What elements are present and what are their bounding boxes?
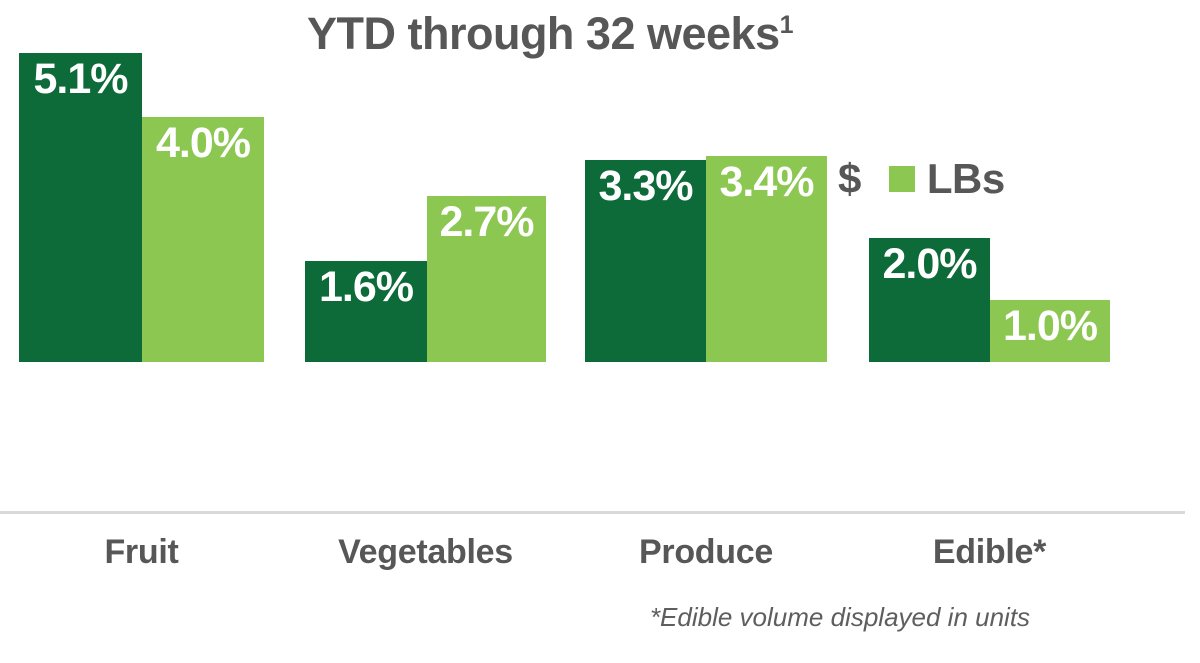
- bar-edible-dollars-value-label: 2.0%: [869, 242, 990, 287]
- bar-vegetables-dollars[interactable]: 1.6%: [305, 261, 427, 362]
- chart-container: YTD through 32 weeks1 $ LBs 5.1%4.0%1.6%…: [0, 0, 1200, 663]
- bar-produce-lbs-value-label: 3.4%: [706, 160, 827, 205]
- category-label-vegetables: Vegetables: [305, 533, 546, 572]
- category-label-edible: Edible*: [869, 533, 1110, 572]
- bar-produce-lbs[interactable]: 3.4%: [706, 156, 827, 362]
- bar-edible-dollars[interactable]: 2.0%: [869, 238, 990, 362]
- bar-produce-dollars[interactable]: 3.3%: [585, 160, 706, 362]
- bar-edible-lbs[interactable]: 1.0%: [990, 300, 1110, 362]
- plot-area: 5.1%4.0%1.6%2.7%3.3%3.4%2.0%1.0%: [0, 0, 1200, 513]
- bar-fruit-lbs[interactable]: 4.0%: [142, 117, 264, 362]
- bar-fruit-dollars-value-label: 5.1%: [19, 57, 142, 102]
- bar-edible-lbs-value-label: 1.0%: [990, 304, 1110, 349]
- bar-vegetables-lbs[interactable]: 2.7%: [427, 196, 546, 362]
- x-axis-line: [0, 511, 1185, 514]
- chart-footnote: *Edible volume displayed in units: [600, 602, 1080, 633]
- bar-produce-dollars-value-label: 3.3%: [585, 164, 706, 209]
- bar-vegetables-dollars-value-label: 1.6%: [305, 265, 427, 310]
- bar-vegetables-lbs-value-label: 2.7%: [427, 200, 546, 245]
- category-label-fruit: Fruit: [19, 533, 264, 572]
- bar-fruit-dollars[interactable]: 5.1%: [19, 53, 142, 362]
- category-label-produce: Produce: [585, 533, 827, 572]
- bar-fruit-lbs-value-label: 4.0%: [142, 121, 264, 166]
